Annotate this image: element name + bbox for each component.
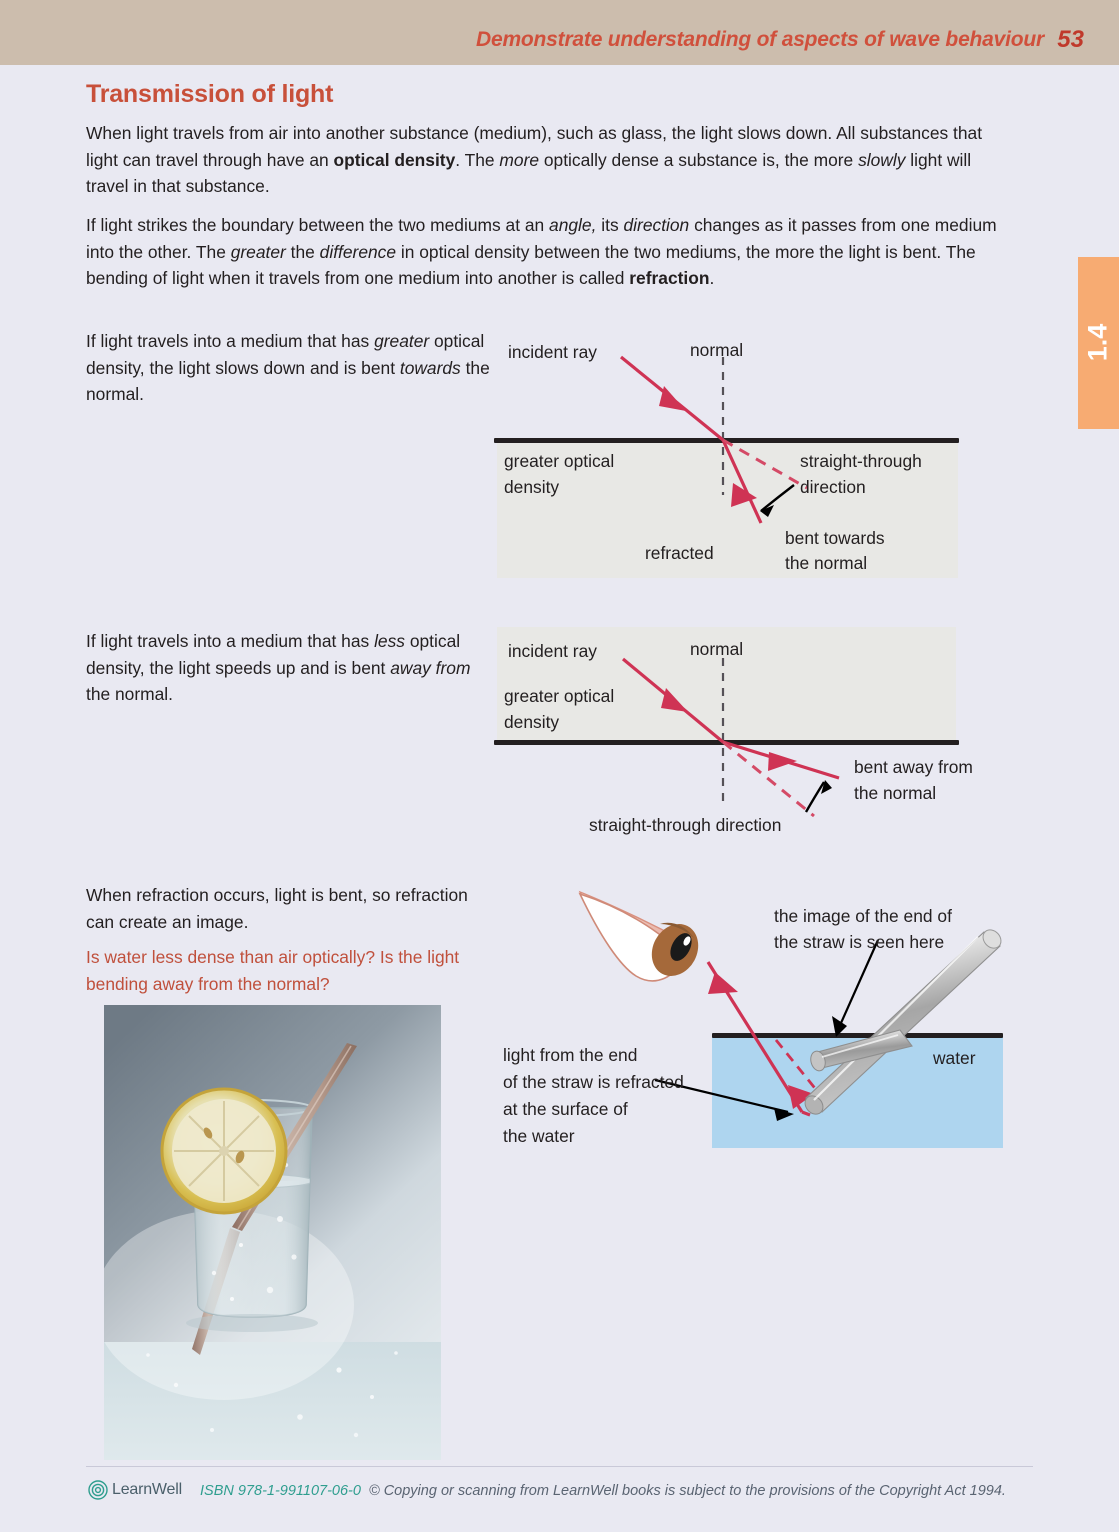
textbook-page: Demonstrate understanding of aspects of … [0, 0, 1119, 1532]
d2-refracted-arrowhead [768, 752, 797, 771]
section-heading: Transmission of light [86, 80, 333, 109]
d2-label-straight-through: straight-through direction [589, 813, 781, 838]
d1-label-straight-1: straight-through [800, 449, 922, 474]
eye-icon [580, 892, 707, 984]
p1-text-3: optically dense a substance is, the more [539, 150, 858, 170]
d1-label-bent-2: the normal [785, 551, 867, 576]
footer-brand-name: LearnWell [112, 1481, 182, 1499]
section-tab-label: 1.4 [1083, 257, 1114, 429]
photo-glass-of-water [104, 1005, 441, 1460]
d1-label-normal: normal [690, 338, 743, 363]
footer-copyright: © Copying or scanning from LearnWell boo… [369, 1483, 1006, 1499]
d2-label-medium-1: greater optical [504, 684, 614, 709]
d3-ray-to-eye-arrowhead [708, 972, 738, 994]
d3-label-light-3: at the surface of [503, 1097, 628, 1122]
p4-text-3: the normal. [86, 684, 173, 704]
d3-label-light-1: light from the end [503, 1043, 637, 1068]
d1-label-medium-1: greater optical [504, 449, 614, 474]
p2-bold-1: refraction [629, 268, 709, 288]
photo-graphic [104, 1005, 441, 1460]
p4-italic-2: away from [390, 658, 470, 678]
d3-virtual-ray-dashed [776, 1040, 818, 1092]
d2-bend-indicator-arc [806, 782, 824, 812]
p2-italic-4: difference [320, 242, 396, 262]
p2-text-2: its [596, 215, 623, 235]
p2-text-6: . [710, 268, 715, 288]
d3-label-light-4: the water [503, 1124, 575, 1149]
d3-image-pointer-arrowhead [832, 1016, 847, 1037]
d2-label-bent-1: bent away from [854, 755, 973, 780]
paragraph-5: When refraction occurs, light is bent, s… [86, 882, 476, 935]
paragraph-2: If light strikes the boundary between th… [86, 212, 1014, 292]
paragraph-3: If light travels into a medium that has … [86, 328, 494, 408]
d2-label-medium-2: density [504, 710, 559, 735]
p2-italic-3: greater [231, 242, 286, 262]
d1-bend-indicator-arc [761, 485, 794, 511]
p2-italic-2: direction [624, 215, 690, 235]
d1-label-straight-2: direction [800, 475, 866, 500]
d3-label-image-2: the straw is seen here [774, 930, 944, 955]
paragraph-6-question: Is water less dense than air optically? … [86, 944, 486, 997]
p1-italic-1: more [499, 150, 539, 170]
running-head-title: Demonstrate understanding of aspects of … [476, 28, 1044, 52]
p3-italic-2: towards [400, 358, 461, 378]
d1-label-medium-2: density [504, 475, 559, 500]
footer-isbn: ISBN 978-1-991107-06-0 [200, 1483, 361, 1499]
d3-label-water: water [933, 1046, 976, 1071]
d3-label-light-2: of the straw is refracted [503, 1070, 684, 1095]
p3-italic-1: greater [374, 331, 429, 351]
d2-label-bent-2: the normal [854, 781, 936, 806]
p1-bold-1: optical density [334, 150, 456, 170]
p2-italic-1: angle, [549, 215, 596, 235]
p1-text-2: . The [455, 150, 499, 170]
p1-italic-2: slowly [858, 150, 905, 170]
page-number: 53 [1057, 26, 1084, 54]
p4-italic-1: less [374, 631, 405, 651]
footer-divider [86, 1466, 1033, 1467]
d3-label-image-1: the image of the end of [774, 904, 952, 929]
d2-incident-arrowhead [661, 688, 688, 712]
d2-label-incident-ray: incident ray [508, 639, 597, 664]
d1-label-incident-ray: incident ray [508, 340, 597, 365]
p2-text-1: If light strikes the boundary between th… [86, 215, 549, 235]
d2-straight-through-line [723, 742, 814, 816]
p2-text-4: the [286, 242, 320, 262]
d1-label-bent-1: bent towards [785, 526, 885, 551]
section-tab: 1.4 [1078, 257, 1119, 429]
p4-text-1: If light travels into a medium that has [86, 631, 374, 651]
p3-text-1: If light travels into a medium that has [86, 331, 374, 351]
paragraph-1: When light travels from air into another… [86, 120, 1014, 200]
paragraph-4: If light travels into a medium that has … [86, 628, 486, 708]
lemon-slice-graphic [162, 1089, 286, 1213]
learnwell-logo-icon [88, 1480, 108, 1500]
d1-label-refracted: refracted [645, 541, 714, 566]
d2-label-normal: normal [690, 637, 743, 662]
